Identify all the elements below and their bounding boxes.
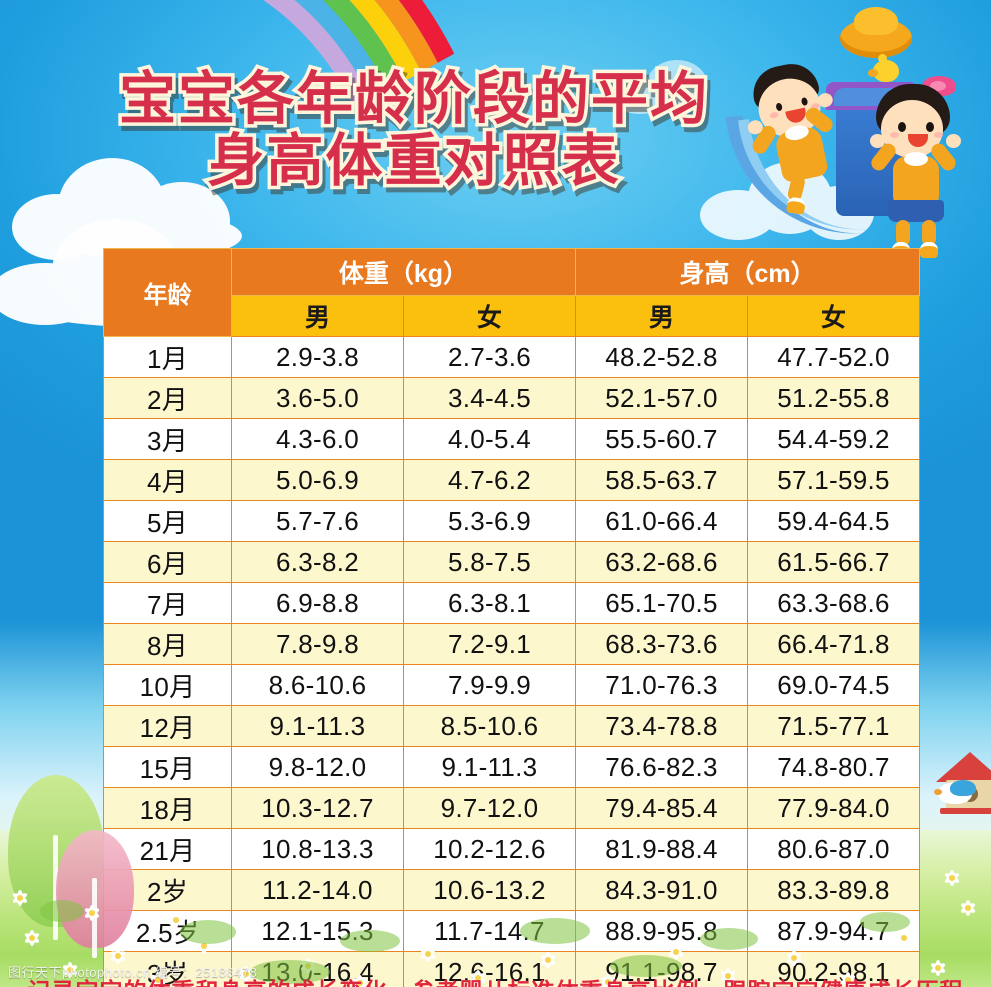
table-row: 3月4.3-6.04.0-5.455.5-60.754.4-59.2 [104, 419, 920, 460]
height-male-cell: 81.9-88.4 [576, 829, 748, 870]
weight-male-cell: 3.6-5.0 [232, 378, 404, 419]
growth-chart-table-wrapper: 年龄 体重（kg） 身高（cm） 男 女 男 女 1月2.9-3.82.7-3.… [103, 248, 919, 955]
height-female-cell: 47.7-52.0 [748, 337, 920, 378]
hand [946, 134, 961, 148]
header-weight-female: 女 [404, 296, 576, 337]
title-line-1: 宝宝各年龄阶段的平均 [84, 70, 744, 128]
weight-male-cell: 10.3-12.7 [232, 788, 404, 829]
table-head: 年龄 体重（kg） 身高（cm） 男 女 男 女 [104, 249, 920, 337]
weight-female-cell: 5.3-6.9 [404, 501, 576, 542]
grass-blob [860, 912, 910, 932]
age-cell: 6月 [104, 542, 232, 583]
weight-female-cell: 7.9-9.9 [404, 665, 576, 706]
daisy-icon [960, 900, 976, 916]
height-male-cell: 71.0-76.3 [576, 665, 748, 706]
height-male-cell: 58.5-63.7 [576, 460, 748, 501]
age-cell: 8月 [104, 624, 232, 665]
daisy-icon [12, 890, 28, 906]
daisy-icon [540, 952, 556, 968]
height-female-cell: 59.4-64.5 [748, 501, 920, 542]
grass-blob [40, 900, 84, 922]
table-row: 21月10.8-13.310.2-12.681.9-88.480.6-87.0 [104, 829, 920, 870]
table-row: 4月5.0-6.94.7-6.258.5-63.757.1-59.5 [104, 460, 920, 501]
table-row: 1月2.9-3.82.7-3.648.2-52.847.7-52.0 [104, 337, 920, 378]
table-row: 12月9.1-11.38.5-10.673.4-78.871.5-77.1 [104, 706, 920, 747]
shoe [920, 242, 938, 258]
grass-blob [180, 920, 236, 944]
daisy-icon [168, 912, 184, 928]
header-height-female: 女 [748, 296, 920, 337]
height-female-cell: 61.5-66.7 [748, 542, 920, 583]
weight-female-cell: 9.1-11.3 [404, 747, 576, 788]
height-female-cell: 71.5-77.1 [748, 706, 920, 747]
height-male-cell: 65.1-70.5 [576, 583, 748, 624]
daisy-icon [944, 870, 960, 886]
page-title: 宝宝各年龄阶段的平均 身高体重对照表 [84, 70, 744, 190]
age-cell: 4月 [104, 460, 232, 501]
height-male-cell: 55.5-60.7 [576, 419, 748, 460]
height-female-cell: 63.3-68.6 [748, 583, 920, 624]
age-cell: 5月 [104, 501, 232, 542]
height-female-cell: 66.4-71.8 [748, 624, 920, 665]
birdhouse-roof [936, 752, 991, 782]
weight-female-cell: 4.7-6.2 [404, 460, 576, 501]
girl-character [870, 70, 990, 250]
age-cell: 7月 [104, 583, 232, 624]
table-row: 6月6.3-8.25.8-7.563.2-68.661.5-66.7 [104, 542, 920, 583]
table-row: 10月8.6-10.67.9-9.971.0-76.369.0-74.5 [104, 665, 920, 706]
height-female-cell: 83.3-89.8 [748, 870, 920, 911]
age-cell: 2月 [104, 378, 232, 419]
eye [898, 122, 906, 132]
daisy-icon [896, 930, 912, 946]
watermark-text: 图行天下photophoto.cn 编号：25186478 [8, 962, 257, 981]
table-row: 2岁11.2-14.010.6-13.284.3-91.083.3-89.8 [104, 870, 920, 911]
weight-male-cell: 5.7-7.6 [232, 501, 404, 542]
table-header-row-groups: 年龄 体重（kg） 身高（cm） [104, 249, 920, 296]
table-row: 18月10.3-12.79.7-12.079.4-85.477.9-84.0 [104, 788, 920, 829]
weight-male-cell: 11.2-14.0 [232, 870, 404, 911]
height-female-cell: 57.1-59.5 [748, 460, 920, 501]
birdhouse-base [940, 808, 991, 814]
height-female-cell: 80.6-87.0 [748, 829, 920, 870]
header-height-group: 身高（cm） [576, 249, 920, 296]
height-male-cell: 79.4-85.4 [576, 788, 748, 829]
header-height-male: 男 [576, 296, 748, 337]
height-male-cell: 68.3-73.6 [576, 624, 748, 665]
eye [926, 122, 934, 132]
weight-female-cell: 10.6-13.2 [404, 870, 576, 911]
weight-male-cell: 6.9-8.8 [232, 583, 404, 624]
table-row: 15月9.8-12.09.1-11.376.6-82.374.8-80.7 [104, 747, 920, 788]
age-cell: 3月 [104, 419, 232, 460]
age-cell: 1月 [104, 337, 232, 378]
weight-male-cell: 4.3-6.0 [232, 419, 404, 460]
header-weight-male: 男 [232, 296, 404, 337]
cheek [934, 132, 943, 138]
blue-bird-icon [938, 782, 972, 804]
daisy-icon [84, 905, 100, 921]
weight-female-cell: 6.3-8.1 [404, 583, 576, 624]
age-cell: 18月 [104, 788, 232, 829]
poster-canvas: 宝宝各年龄阶段的平均 身高体重对照表 年龄 体重（kg） 身高（cm） 男 女 … [0, 0, 991, 987]
weight-male-cell: 6.3-8.2 [232, 542, 404, 583]
title-line-2: 身高体重对照表 [84, 132, 744, 190]
age-cell: 10月 [104, 665, 232, 706]
weight-male-cell: 7.8-9.8 [232, 624, 404, 665]
table-row: 8月7.8-9.87.2-9.168.3-73.666.4-71.8 [104, 624, 920, 665]
height-male-cell: 61.0-66.4 [576, 501, 748, 542]
cheek [890, 132, 899, 138]
table-row: 7月6.9-8.86.3-8.165.1-70.563.3-68.6 [104, 583, 920, 624]
height-male-cell: 48.2-52.8 [576, 337, 748, 378]
weight-male-cell: 10.8-13.3 [232, 829, 404, 870]
height-female-cell: 51.2-55.8 [748, 378, 920, 419]
weight-female-cell: 4.0-5.4 [404, 419, 576, 460]
header-weight-group: 体重（kg） [232, 249, 576, 296]
skirt [888, 200, 944, 222]
weight-female-cell: 2.7-3.6 [404, 337, 576, 378]
age-cell: 12月 [104, 706, 232, 747]
grass-blob [700, 928, 758, 950]
tree-icon-pink [56, 830, 134, 960]
weight-male-cell: 2.9-3.8 [232, 337, 404, 378]
birdhouse-icon [940, 752, 991, 822]
weight-female-cell: 10.2-12.6 [404, 829, 576, 870]
daisy-icon [24, 930, 40, 946]
daisy-icon [786, 950, 802, 966]
kids-playground-illustration [740, 0, 991, 248]
height-female-cell: 74.8-80.7 [748, 747, 920, 788]
height-female-cell: 69.0-74.5 [748, 665, 920, 706]
height-female-cell: 54.4-59.2 [748, 419, 920, 460]
daisy-icon [420, 946, 436, 962]
hand [870, 134, 885, 148]
height-male-cell: 73.4-78.8 [576, 706, 748, 747]
header-age: 年龄 [104, 249, 232, 337]
height-female-cell: 77.9-84.0 [748, 788, 920, 829]
weight-male-cell: 9.8-12.0 [232, 747, 404, 788]
weight-female-cell: 5.8-7.5 [404, 542, 576, 583]
table-row: 2月3.6-5.03.4-4.552.1-57.051.2-55.8 [104, 378, 920, 419]
weight-female-cell: 3.4-4.5 [404, 378, 576, 419]
age-cell: 15月 [104, 747, 232, 788]
grass-blob [520, 918, 590, 944]
grass-blob [340, 930, 400, 952]
height-male-cell: 76.6-82.3 [576, 747, 748, 788]
height-male-cell: 63.2-68.6 [576, 542, 748, 583]
growth-chart-table: 年龄 体重（kg） 身高（cm） 男 女 男 女 1月2.9-3.82.7-3.… [103, 248, 920, 987]
table-row: 5月5.7-7.65.3-6.961.0-66.459.4-64.5 [104, 501, 920, 542]
weight-male-cell: 9.1-11.3 [232, 706, 404, 747]
weight-female-cell: 9.7-12.0 [404, 788, 576, 829]
height-male-cell: 52.1-57.0 [576, 378, 748, 419]
weight-male-cell: 5.0-6.9 [232, 460, 404, 501]
weight-male-cell: 8.6-10.6 [232, 665, 404, 706]
collar [904, 152, 928, 166]
table-body: 1月2.9-3.82.7-3.648.2-52.847.7-52.02月3.6-… [104, 337, 920, 987]
weight-female-cell: 7.2-9.1 [404, 624, 576, 665]
height-male-cell: 84.3-91.0 [576, 870, 748, 911]
weight-female-cell: 8.5-10.6 [404, 706, 576, 747]
